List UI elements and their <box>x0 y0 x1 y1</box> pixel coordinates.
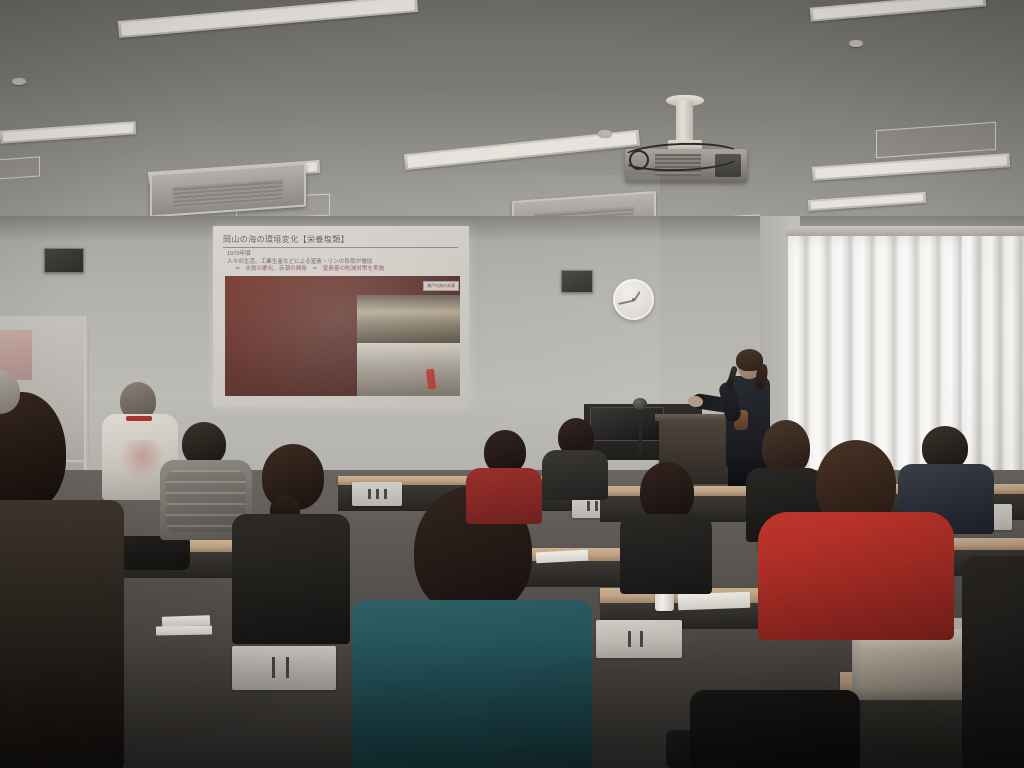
audience-far-left-edge <box>0 370 32 450</box>
slide-line-1: 1970年頃 <box>227 251 462 259</box>
handout-papers[interactable] <box>156 626 212 636</box>
audience-front-center-right <box>690 690 860 768</box>
projector-cable-loop <box>629 150 649 170</box>
audience-red-sweater <box>758 440 954 640</box>
smoke-detector-icon <box>598 130 612 137</box>
audience-front-right <box>962 556 1024 768</box>
slide-photo-upper <box>357 295 460 343</box>
person-torso <box>352 600 592 768</box>
person-torso <box>0 500 124 768</box>
slide-photo-lower <box>357 343 460 396</box>
smoke-detector-icon <box>12 78 26 85</box>
person-torso <box>758 512 954 640</box>
audience-mid-right <box>620 462 712 592</box>
audience-teal-sweater <box>352 486 592 768</box>
slide-photo: 瀬戸内海の赤潮 <box>225 276 460 396</box>
projection-screen: 岡山の海の環境変化【栄養塩類】 1970年頃 人々の生活、工業生産などによる窒素… <box>213 226 469 407</box>
handout-papers[interactable] <box>678 592 751 611</box>
person-torso <box>962 556 1024 768</box>
person-head <box>0 370 20 414</box>
audience-ponytail <box>232 444 350 644</box>
slide: 岡山の海の環境変化【栄養塩類】 1970年頃 人々の生活、工業生産などによる窒素… <box>221 232 464 398</box>
slide-body: 1970年頃 人々の生活、工業生産などによる窒素・リンの負荷が増加 ⇒ 水質の悪… <box>227 251 462 274</box>
wall-clock <box>613 279 654 320</box>
wall-speaker <box>44 248 84 273</box>
person-torso <box>232 514 350 644</box>
person-torso <box>466 468 542 524</box>
ceiling-panel <box>0 156 40 179</box>
wall-speaker <box>561 270 593 293</box>
slide-line-3: ⇒ 水質の悪化、赤潮の頻発 ⇒ 窒素量の削減対策を実施 <box>227 266 462 274</box>
clock-center-pin <box>632 298 635 301</box>
slide-photo-right-column <box>357 276 460 396</box>
chair <box>596 620 682 658</box>
person-torso <box>542 450 608 500</box>
person-head <box>640 462 694 522</box>
microphone-stand <box>639 404 642 454</box>
blinds-headrail <box>786 226 1024 236</box>
audience-red-top-center <box>466 430 542 522</box>
slide-photo-label: 瀬戸内海の赤潮 <box>423 281 459 291</box>
slide-title: 岡山の海の環境変化【栄養塩類】 <box>223 232 458 248</box>
smoke-detector-icon <box>849 40 863 47</box>
slide-photo-figure <box>426 368 436 389</box>
microphone-head-icon <box>633 398 647 410</box>
lecture-room-photo: 岡山の海の環境変化【栄養塩類】 1970年頃 人々の生活、工業生産などによる窒素… <box>0 0 1024 768</box>
person-torso <box>620 514 712 594</box>
person-torso <box>690 690 860 768</box>
chair <box>232 646 336 690</box>
audience-back-center <box>542 418 608 498</box>
